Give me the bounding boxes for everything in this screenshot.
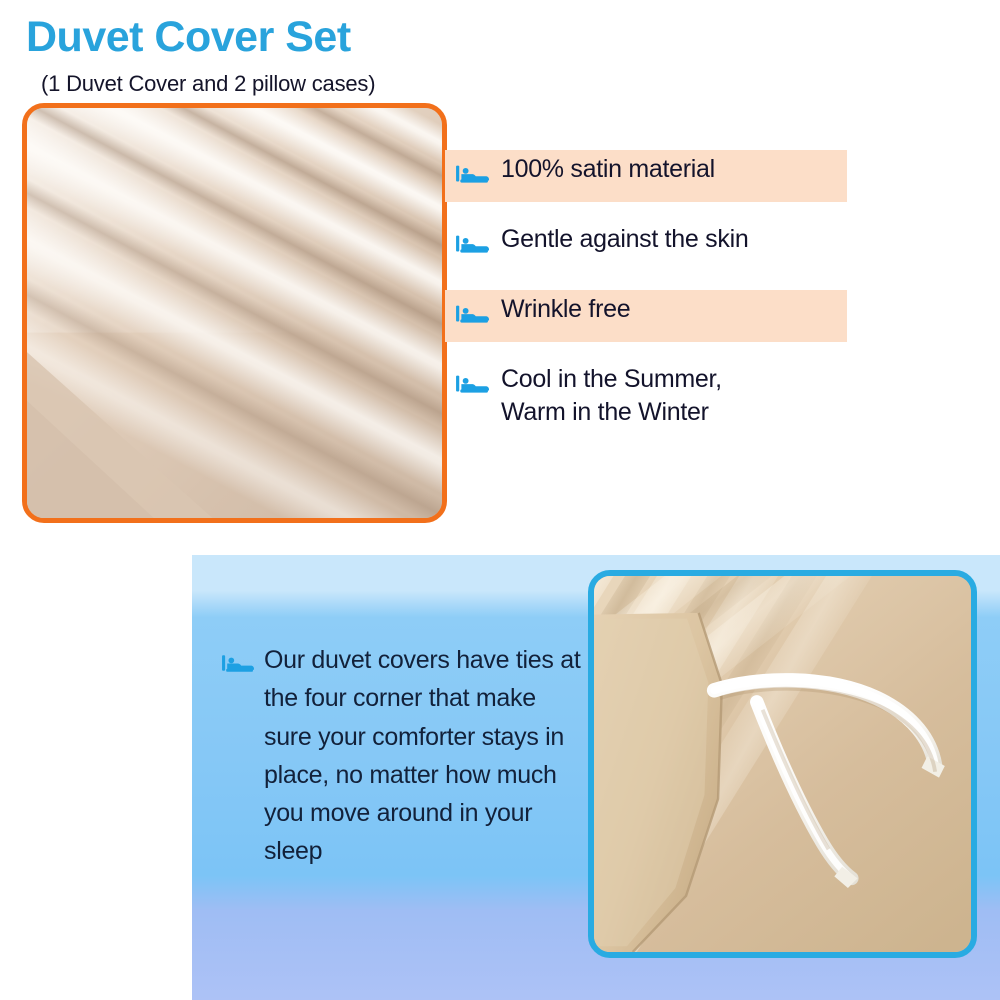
duvet-ties-photo — [588, 570, 977, 958]
feature-spacer — [445, 342, 885, 360]
ties-description-text: Our duvet covers have ties at the four c… — [264, 641, 581, 871]
duvet-ties-image — [594, 576, 971, 952]
bed-icon — [455, 156, 489, 190]
feature-label: 100% satin material — [501, 150, 715, 186]
feature-label: Cool in the Summer, Warm in the Winter — [501, 360, 722, 429]
infographic-canvas: Duvet Cover Set (1 Duvet Cover and 2 pil… — [0, 0, 1000, 1000]
bed-icon — [221, 646, 254, 679]
bed-icon — [455, 366, 489, 400]
feature-item-gentle-skin: Gentle against the skin — [445, 220, 885, 272]
feature-spacer — [445, 202, 885, 220]
satin-fabric-image — [27, 108, 442, 518]
bed-icon — [455, 226, 489, 260]
bed-icon — [455, 296, 489, 330]
feature-spacer — [445, 272, 885, 290]
feature-item-satin-material: 100% satin material — [445, 150, 847, 202]
feature-item-temperature: Cool in the Summer, Warm in the Winter — [445, 360, 885, 438]
page-title: Duvet Cover Set — [26, 16, 351, 59]
feature-list: 100% satin material Gentle against the s… — [445, 150, 885, 438]
page-subtitle: (1 Duvet Cover and 2 pillow cases) — [41, 71, 375, 97]
ties-description: Our duvet covers have ties at the four c… — [221, 641, 581, 871]
feature-label: Wrinkle free — [501, 290, 630, 326]
feature-item-wrinkle-free: Wrinkle free — [445, 290, 847, 342]
satin-fabric-photo — [22, 103, 447, 523]
feature-label: Gentle against the skin — [501, 220, 748, 256]
